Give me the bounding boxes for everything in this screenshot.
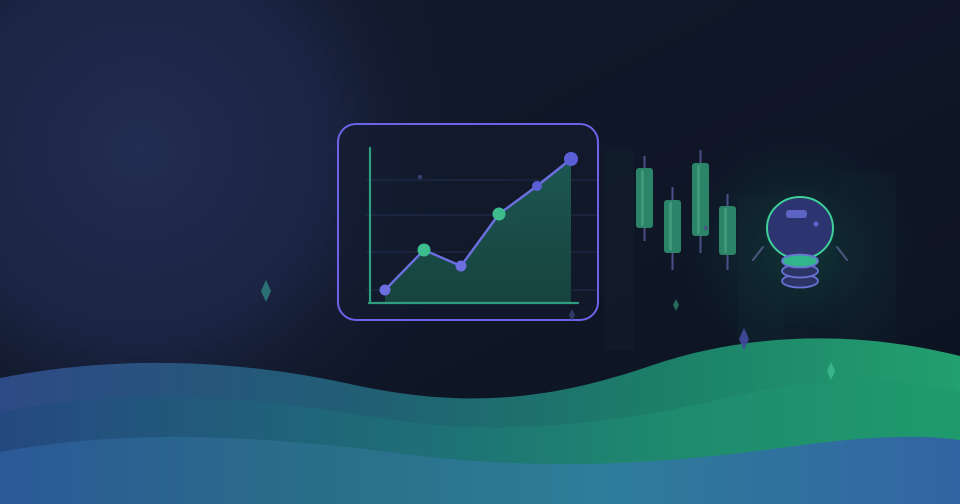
sparkle-purple-wave-icon	[739, 328, 749, 350]
sparkle-green-wave-icon	[827, 362, 835, 380]
sparkle-card-corner-icon	[569, 309, 575, 321]
hero-illustration-scene	[0, 0, 960, 504]
sparkle-layer	[0, 0, 960, 504]
sparkle-green-small-icon	[673, 299, 679, 311]
sparkle-teal-left-icon	[261, 280, 271, 302]
